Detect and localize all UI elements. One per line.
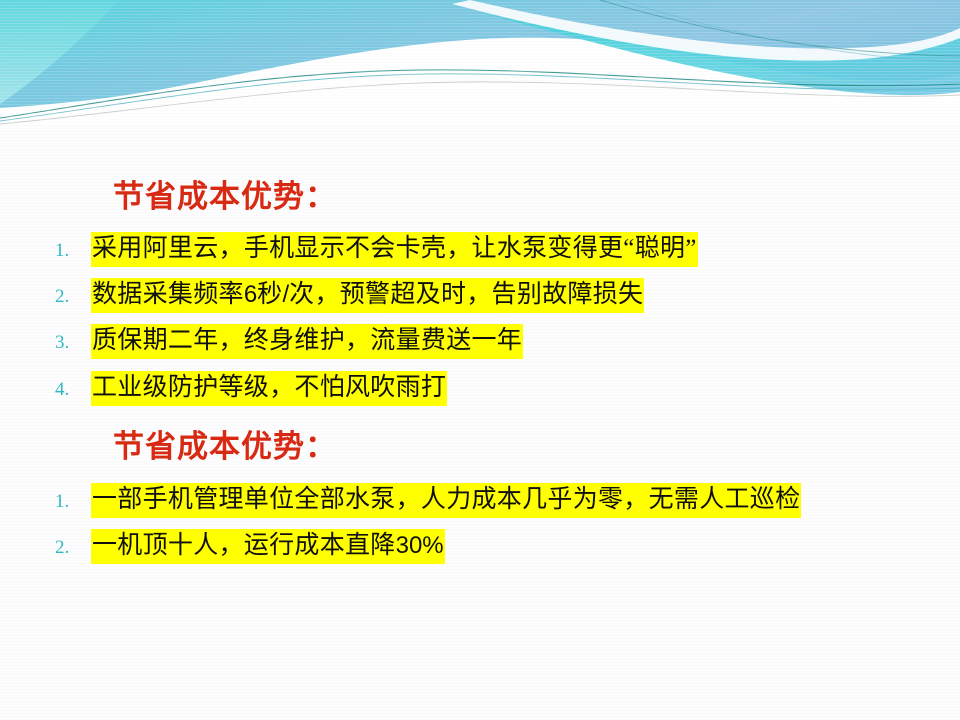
section-title-2: 节省成本优势：: [113, 421, 337, 466]
list-marker: 1.: [50, 491, 91, 513]
list-item: 1. 采用阿里云，手机显示不会卡壳，让水泵变得更“聪明”: [50, 232, 698, 267]
list-marker: 1.: [50, 240, 91, 262]
list-item-text: 工业级防护等级，不怕风吹雨打: [91, 371, 447, 406]
list-item-text: 一部手机管理单位全部水泵，人力成本几乎为零，无需人工巡检: [91, 483, 801, 518]
presentation-slide: 节省成本优势： 1. 采用阿里云，手机显示不会卡壳，让水泵变得更“聪明” 2. …: [0, 0, 960, 720]
slide-content: 节省成本优势： 1. 采用阿里云，手机显示不会卡壳，让水泵变得更“聪明” 2. …: [0, 0, 960, 720]
list-item: 2. 一机顶十人，运行成本直降30%: [50, 529, 445, 564]
list-item: 2. 数据采集频率6秒/次，预警超及时，告别故障损失: [50, 278, 644, 313]
section-title-1: 节省成本优势：: [113, 171, 337, 216]
list-item-text: 数据采集频率6秒/次，预警超及时，告别故障损失: [91, 278, 644, 313]
list-item-text: 一机顶十人，运行成本直降30%: [91, 529, 445, 564]
list-item: 1. 一部手机管理单位全部水泵，人力成本几乎为零，无需人工巡检: [50, 483, 801, 518]
list-marker: 2.: [50, 537, 91, 559]
list-marker: 2.: [50, 286, 91, 308]
list-item-text: 质保期二年，终身维护，流量费送一年: [91, 324, 523, 359]
list-item-text: 采用阿里云，手机显示不会卡壳，让水泵变得更“聪明”: [91, 232, 698, 267]
list-marker: 3.: [50, 332, 91, 354]
list-marker: 4.: [50, 379, 91, 401]
list-item: 4. 工业级防护等级，不怕风吹雨打: [50, 371, 447, 406]
list-item: 3. 质保期二年，终身维护，流量费送一年: [50, 324, 523, 359]
